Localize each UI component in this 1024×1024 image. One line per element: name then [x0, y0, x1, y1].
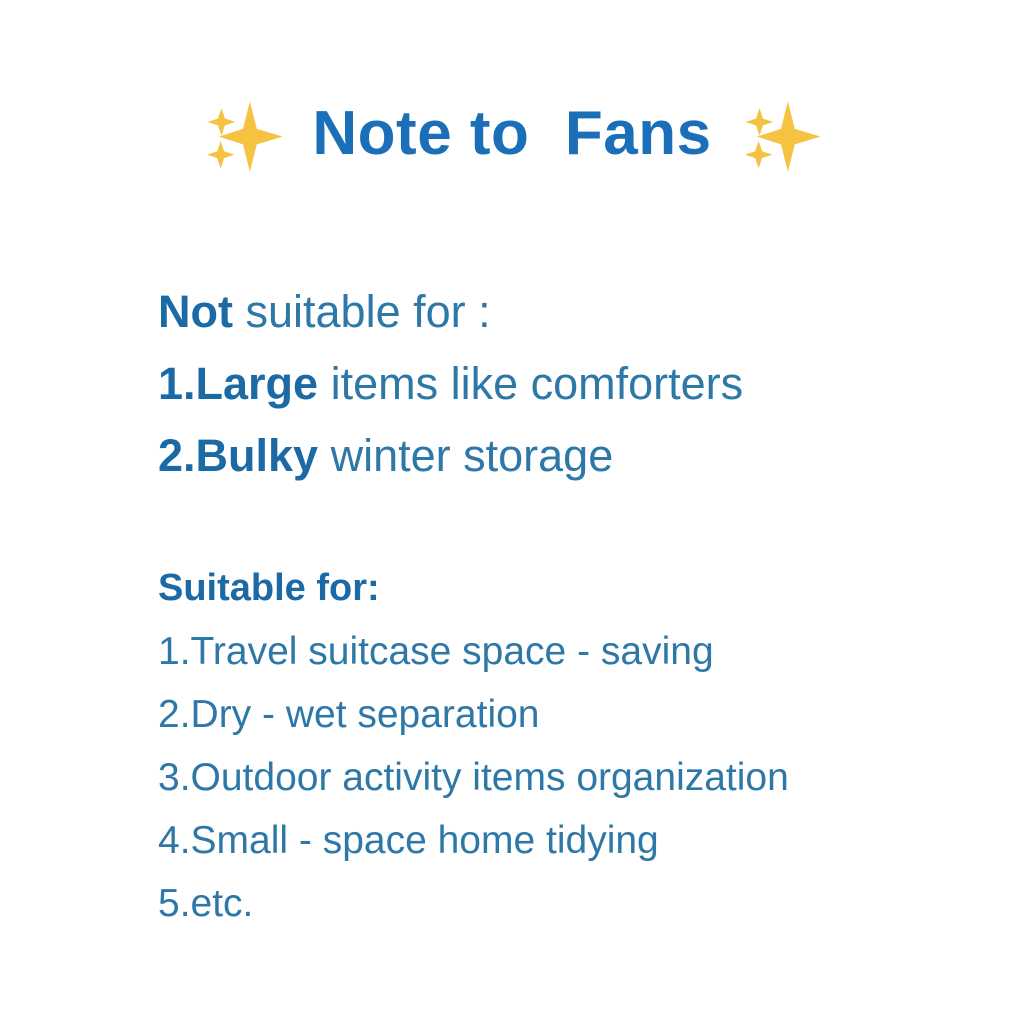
not-suitable-item-rest: items like comforters — [318, 358, 743, 409]
suitable-item: 3.Outdoor activity items organization — [158, 746, 988, 809]
page-title-row: Note to Fans — [0, 86, 1024, 182]
suitable-item: 5.etc. — [158, 872, 988, 935]
note-to-fans-poster: Note to Fans Not suitable for : 1.Large … — [0, 0, 1024, 1024]
suitable-item: 2.Dry - wet separation — [158, 683, 988, 746]
content-body: Not suitable for : 1.Large items like co… — [158, 276, 988, 935]
suitable-item: 4.Small - space home tidying — [158, 809, 988, 872]
page-title: Note to Fans — [312, 103, 711, 165]
suitable-item: 1.Travel suitcase space - saving — [158, 620, 988, 683]
sparkles-icon-left — [200, 91, 286, 177]
not-suitable-item: 2.Bulky winter storage — [158, 420, 988, 492]
not-suitable-heading: Not suitable for : — [158, 276, 988, 348]
not-suitable-item-bold: 2.Bulky — [158, 430, 318, 481]
not-suitable-item-rest: winter storage — [318, 430, 613, 481]
not-suitable-heading-bold: Not — [158, 286, 233, 337]
not-suitable-heading-rest: suitable for : — [233, 286, 491, 337]
not-suitable-item-bold: 1.Large — [158, 358, 318, 409]
sparkles-icon-right — [738, 91, 824, 177]
suitable-section: Suitable for: 1.Travel suitcase space - … — [158, 556, 988, 935]
not-suitable-item: 1.Large items like comforters — [158, 348, 988, 420]
suitable-heading: Suitable for: — [158, 556, 988, 620]
not-suitable-section: Not suitable for : 1.Large items like co… — [158, 276, 988, 492]
